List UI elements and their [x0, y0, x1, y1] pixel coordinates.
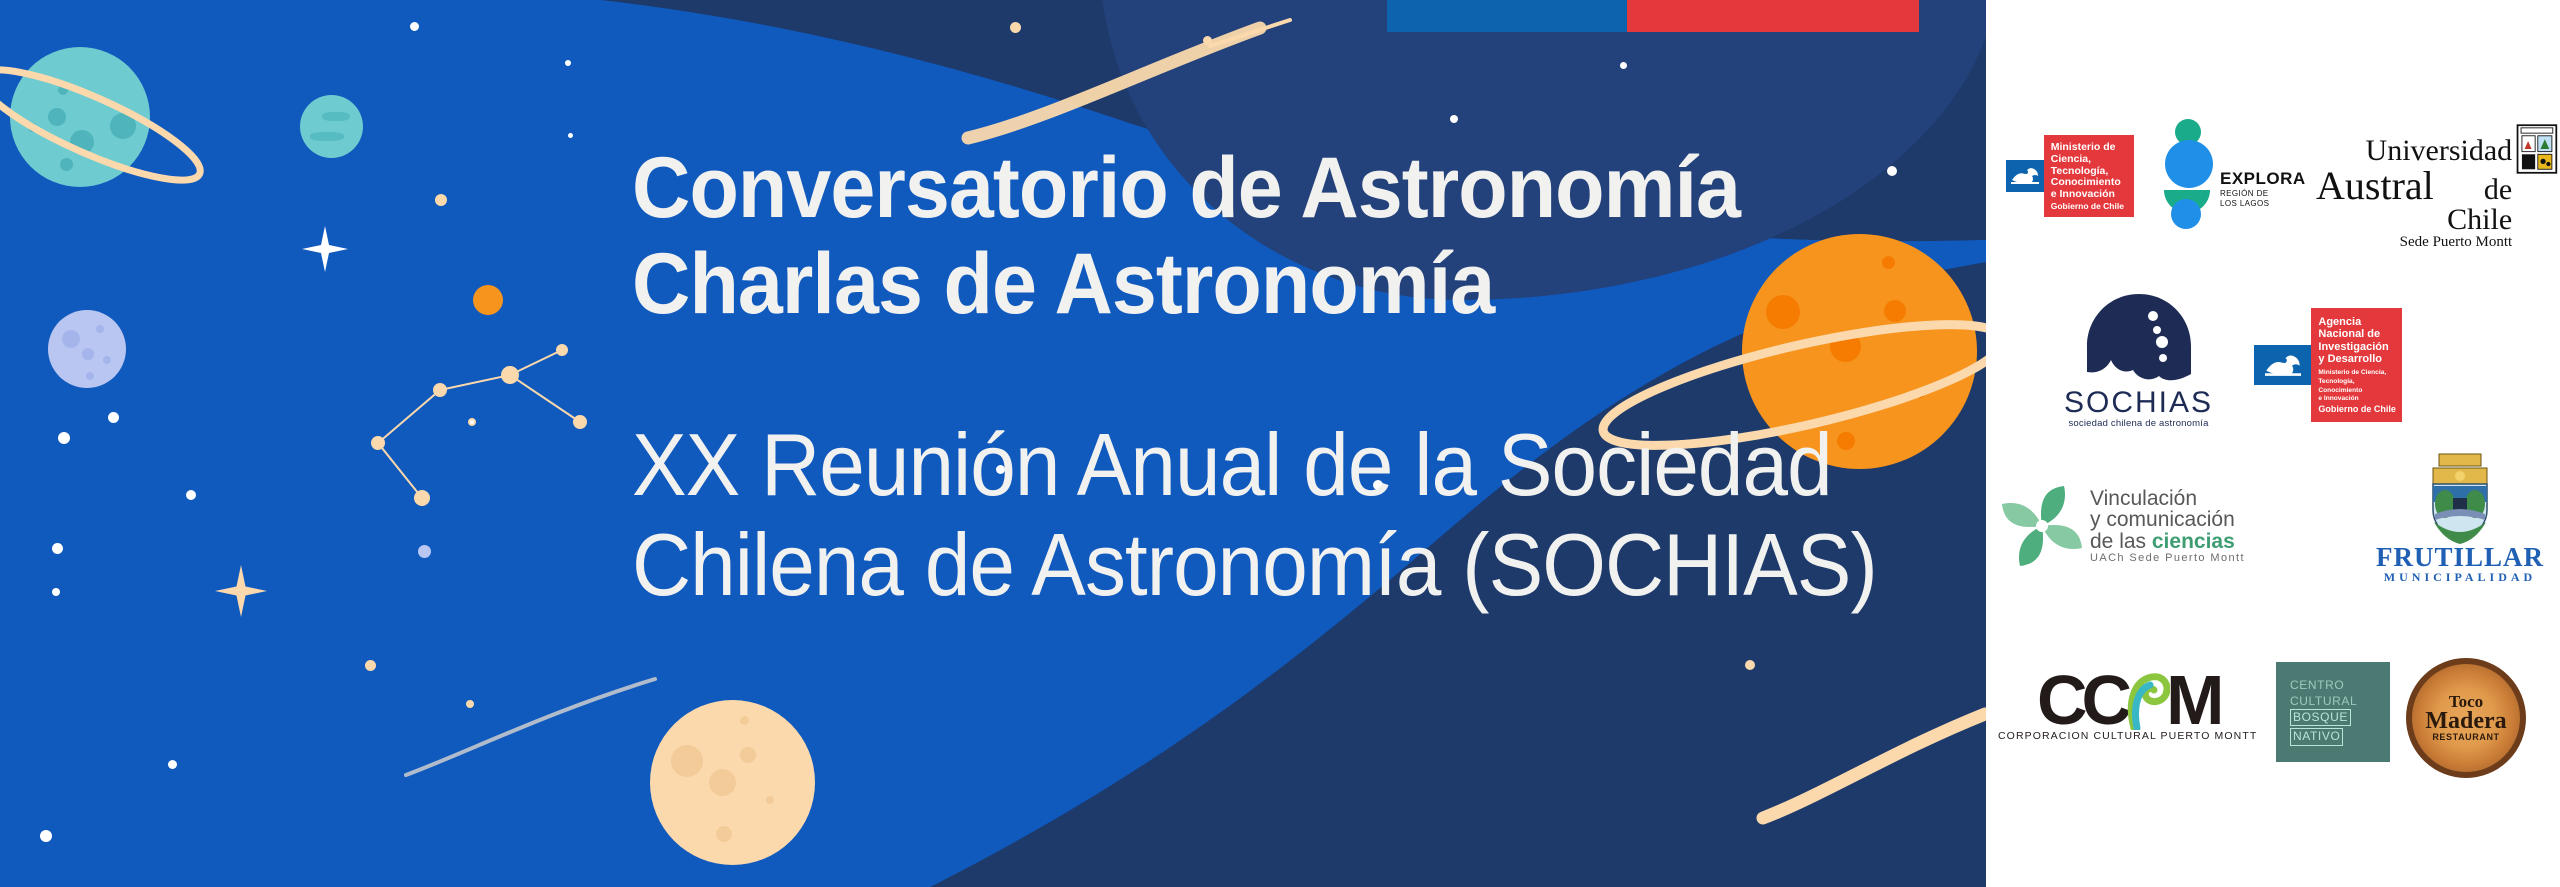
planet-crater [310, 132, 344, 141]
star-dot [1203, 36, 1212, 45]
star-dot [168, 760, 177, 769]
logo-uach: Universidad Austral de Chile Sede Puerto… [2316, 122, 2560, 250]
ministerio-footer: Gobierno de Chile [2051, 201, 2128, 211]
star-dot [410, 22, 419, 31]
poster-banner: Conversatorio de Astronomía Charlas de A… [0, 0, 2560, 887]
anid-small-3: e Innovación [2318, 395, 2398, 404]
poster-title: Conversatorio de Astronomía Charlas de A… [632, 140, 1892, 333]
star-dot [1745, 660, 1755, 670]
moon-crater [96, 325, 104, 333]
star-dot [186, 490, 196, 500]
moon-crater [716, 826, 732, 842]
vinculacion-line-3b: ciencias [2152, 530, 2235, 553]
logo-explora: EXPLORA REGIÓN DE LOS LAGOS [2158, 118, 2306, 230]
toco-line-2: Madera [2425, 710, 2506, 733]
moon-crater [740, 747, 756, 763]
frutillar-crest-icon [2423, 452, 2497, 544]
sparkle-star [302, 226, 348, 272]
star-dot [1620, 62, 1627, 69]
title-line-2: Charlas de Astronomía [632, 236, 1892, 332]
sparkle-star [215, 565, 267, 617]
ccpm-swirl-icon [2124, 670, 2170, 730]
logo-frutillar-municipalidad: FRUTILLAR MUNICIPALIDAD [2376, 452, 2544, 583]
anid-line-3: Investigación [2318, 341, 2398, 354]
logo-vinculacion-ciencias: Vinculación y comunicación de las cienci… [2000, 474, 2245, 578]
vinculacion-sub: UACh Sede Puerto Montt [2090, 552, 2245, 564]
escudo-chile-glyph [2009, 160, 2041, 188]
moon-crater [86, 372, 94, 380]
logo-anid: Agencia Nacional de Investigación y Desa… [2254, 300, 2402, 430]
orange-dot [473, 285, 503, 315]
frutillar-line-2: MUNICIPALIDAD [2384, 571, 2536, 583]
subtitle-line-2: Chilena de Astronomía (SOCHIAS) [632, 515, 1878, 615]
star-dot [108, 412, 119, 423]
ministerio-line-5: e Innovación [2051, 189, 2128, 201]
moon-crater [709, 769, 736, 796]
star-dot [52, 588, 60, 596]
logo-centro-cultural-bosque-nativo: CENTRO CULTURAL BOSQUE NATIVO [2276, 662, 2390, 762]
anid-line-4: y Desarrollo [2318, 353, 2398, 366]
logo-ministerio-ciencia: Ministerio de Ciencia, Tecnología, Conoc… [2006, 124, 2134, 228]
constellation [250, 330, 670, 510]
explora-sub-2: LOS LAGOS [2220, 199, 2306, 209]
vinculacion-line-3a: de las [2090, 530, 2152, 553]
flag-strip-blue [1387, 0, 1627, 32]
star-dot [40, 830, 52, 842]
logo-sochias: SOCHIAS sociedad chilena de astronomía [2064, 292, 2213, 429]
escudo-chile-icon [2009, 160, 2041, 192]
star-dot [1010, 22, 1021, 33]
uach-line-3: Sede Puerto Montt [2316, 235, 2512, 250]
star-dot [58, 432, 70, 444]
uach-line-2: Austral [2316, 166, 2434, 206]
title-line-1: Conversatorio de Astronomía [632, 140, 1892, 236]
moon-crater [82, 348, 94, 360]
uach-line-2b: de Chile [2438, 175, 2512, 235]
star-dot [568, 133, 573, 138]
moon-crater [103, 356, 111, 364]
poster-artwork-panel: Conversatorio de Astronomía Charlas de A… [0, 0, 1986, 887]
escudo-chile-glyph [2262, 345, 2304, 381]
poster-text-block: Conversatorio de Astronomía Charlas de A… [632, 140, 1972, 615]
uach-line-1: Universidad [2316, 136, 2512, 166]
vinculacion-line-2b: comunicación [2106, 508, 2234, 531]
explora-sub-1: REGIÓN DE [2220, 189, 2306, 199]
comet-trail [400, 655, 700, 805]
star-dot [565, 60, 571, 66]
sochias-mark-icon [2085, 292, 2193, 388]
explora-mark-icon [2158, 118, 2216, 230]
bosque-nativo-line-4: NATIVO [2290, 728, 2343, 745]
sochias-tagline: sociedad chilena de astronomía [2068, 418, 2208, 429]
anid-small-1: Ministerio de Ciencia, [2318, 369, 2398, 378]
explora-wordmark: EXPLORA [2220, 169, 2306, 189]
ministerio-line-1: Ministerio de [2051, 142, 2128, 154]
ccpm-sub: CORPORACION CULTURAL PUERTO MONTT [1998, 730, 2257, 742]
toco-line-3: RESTAURANT [2432, 732, 2499, 742]
anid-line-1: Agencia [2318, 316, 2398, 329]
uach-crest-icon [2514, 118, 2560, 180]
teal-small-planet [300, 95, 363, 158]
frutillar-line-1: FRUTILLAR [2376, 544, 2544, 571]
chile-flag-strip [1387, 0, 1919, 32]
star-dot [1450, 115, 1458, 123]
bosque-nativo-line-1: CENTRO [2290, 678, 2344, 693]
star-dot [418, 545, 431, 558]
planet-crater [322, 112, 350, 121]
sochias-wordmark: SOCHIAS [2064, 388, 2213, 418]
star-dot [52, 543, 63, 554]
moon-crater [740, 716, 749, 725]
anid-small-2: Tecnología, Conocimiento [2318, 378, 2398, 396]
star-dot [435, 194, 447, 206]
moon-crater [62, 330, 80, 348]
bosque-nativo-line-2: CULTURAL [2290, 694, 2357, 709]
star-dot [365, 660, 376, 671]
sponsor-logo-panel: Ministerio de Ciencia, Tecnología, Conoc… [1986, 0, 2560, 887]
vinculacion-line-2a: y [2090, 508, 2106, 531]
planet-ring [0, 35, 220, 215]
pinwheel-icon [2000, 474, 2084, 578]
logo-ccpm: CC M CORPORACION CULTURAL PUERTO MONTT [1998, 670, 2257, 742]
logo-toco-madera: Toco Madera RESTAURANT [2406, 658, 2526, 778]
ccpm-mark-2: M [2166, 672, 2218, 728]
anid-footer: Gobierno de Chile [2318, 404, 2398, 414]
ministerio-line-2: Ciencia, [2051, 154, 2128, 166]
comet-trail [1755, 690, 1986, 870]
star-dot [466, 700, 474, 708]
ccpm-mark: CC [2037, 672, 2126, 728]
flag-strip-red [1627, 0, 1919, 32]
escudo-chile-icon [2262, 345, 2304, 385]
vinculacion-line-1: Vinculación [2090, 488, 2245, 509]
moon-crater [766, 796, 774, 804]
anid-line-2: Nacional de [2318, 328, 2398, 341]
bosque-nativo-line-3: BOSQUE [2290, 709, 2351, 726]
poster-subtitle: XX Reunión Anual de la Sociedad Chilena … [632, 415, 1878, 616]
subtitle-line-1: XX Reunión Anual de la Sociedad [632, 415, 1878, 515]
